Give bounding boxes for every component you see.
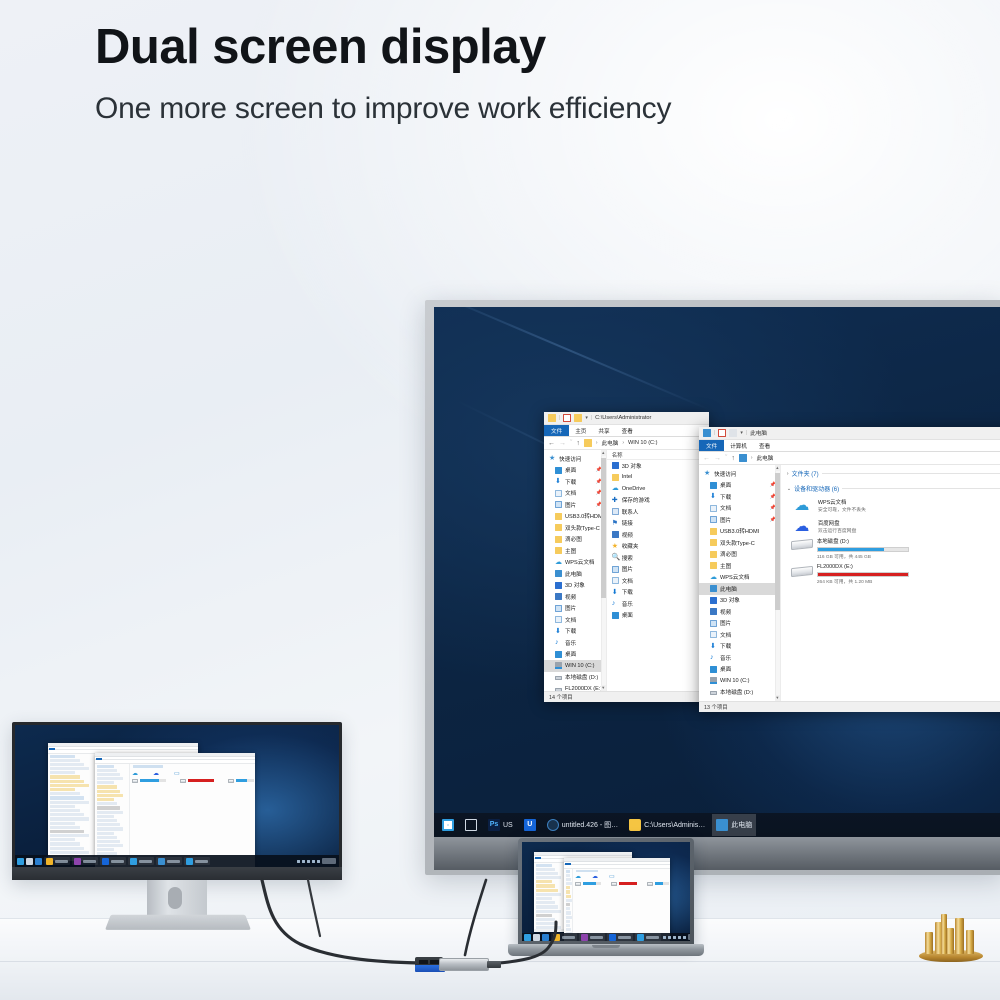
nav-item[interactable]: 桌面📌 — [544, 465, 606, 477]
tray-icon[interactable] — [317, 860, 320, 863]
mini-taskbar-label — [83, 860, 96, 863]
mini-row[interactable] — [50, 805, 75, 808]
mini-nav-pane[interactable] — [95, 764, 130, 868]
window-titlebar[interactable]: | ▾ | C:\Users\Administrator — [544, 412, 709, 425]
nav-item[interactable]: 图片📌 — [544, 499, 606, 511]
mini-row[interactable] — [566, 916, 572, 919]
mini-row[interactable] — [50, 813, 84, 816]
drive-capacity-text: 264 KB 可用，共 1.20 MB — [817, 578, 909, 585]
mini-row[interactable] — [50, 822, 75, 825]
mini-row[interactable] — [50, 755, 75, 758]
titlebar-divider: | — [746, 430, 747, 436]
tab-home[interactable]: 主页 — [569, 425, 592, 436]
mini-ribbon[interactable] — [564, 862, 670, 865]
tray-icon[interactable] — [307, 860, 310, 863]
laptop-taskbar[interactable] — [522, 933, 690, 941]
nav-item[interactable]: 滴必图 — [699, 549, 780, 561]
tab-share[interactable]: 共享 — [592, 425, 615, 436]
file-list-item[interactable]: ✚保存的游戏 — [607, 495, 709, 507]
file-list-item[interactable]: ♪音乐 — [607, 598, 709, 610]
nav-item[interactable]: 双头款Type-C — [544, 522, 606, 534]
mini-taskbar-item[interactable] — [607, 933, 633, 941]
mini-row[interactable] — [536, 880, 552, 883]
nav-item[interactable]: FL2000DX (E:) — [544, 683, 606, 691]
file-list-pane[interactable]: 名称 3D 对象Intel☁OneDrive✚保存的游戏联系人⚑链接视频★收藏夹… — [607, 450, 709, 691]
mini-taskbar-item[interactable] — [524, 934, 531, 941]
file-name: 文档 — [622, 577, 633, 585]
explorer-window-this-pc[interactable]: | ▾ | 此电脑 文件 计算机 查看 ← → ˇ ↑ › 此电脑 — [699, 427, 1000, 712]
mini-taskbar-item[interactable] — [35, 858, 42, 865]
taskbar-item[interactable]: untitled.426 - 图… — [543, 814, 622, 836]
nav-item[interactable]: USB3.0转HDMI — [699, 526, 780, 538]
taskbar-item[interactable] — [438, 814, 458, 836]
taskbar-item[interactable]: PsUS — [484, 814, 517, 836]
nav-item[interactable]: 图片 — [544, 603, 606, 615]
nav-item[interactable]: ⬇下载📌 — [544, 476, 606, 488]
mini-row[interactable] — [536, 872, 558, 875]
mini-row[interactable] — [97, 769, 117, 772]
mini-row[interactable] — [566, 907, 570, 910]
mini-row[interactable] — [536, 905, 558, 908]
mini-row[interactable] — [536, 897, 552, 900]
mini-taskbar-item[interactable] — [635, 933, 661, 941]
mini-row[interactable] — [97, 844, 123, 847]
group-label-devices: 设备和驱动器 (6) — [794, 484, 839, 493]
mini-row[interactable] — [97, 765, 114, 768]
mini-capacity-bar — [236, 779, 254, 782]
file-list-item[interactable]: ★收藏夹 — [607, 541, 709, 553]
mini-taskbar-item[interactable] — [72, 857, 98, 865]
mini-row[interactable] — [97, 773, 120, 776]
breadcrumb-this-pc[interactable]: 此电脑 — [602, 439, 619, 447]
nav-item[interactable]: 滴必图 — [544, 534, 606, 546]
mini-row[interactable] — [50, 838, 75, 841]
folder-icon[interactable] — [629, 819, 641, 831]
nav-item[interactable]: 文档📌 — [544, 488, 606, 500]
recent-locations-button[interactable]: ˇ — [725, 455, 727, 462]
nav-item[interactable]: ★快速访问 — [544, 453, 606, 465]
drive-name: FL2000DX (E:) — [817, 564, 909, 570]
mini-row[interactable] — [97, 785, 117, 788]
group-rule — [822, 473, 1000, 474]
cloud-icon: ☁ — [710, 574, 717, 581]
mini-row[interactable] — [50, 801, 89, 804]
address-bar[interactable]: ← → ˇ ↑ › 此电脑 › WIN 10 (C:) — [544, 437, 709, 450]
system-tray[interactable] — [297, 858, 336, 864]
clock[interactable] — [322, 858, 336, 864]
mini-row[interactable] — [97, 827, 123, 830]
file-list-item[interactable]: Intel — [607, 472, 709, 484]
file-list-item[interactable]: 桌面 — [607, 610, 709, 622]
nav-item[interactable]: 主图 — [699, 560, 780, 572]
mini-row[interactable] — [97, 815, 114, 818]
mini-taskbar-item[interactable] — [533, 934, 540, 941]
mini-row[interactable] — [50, 788, 75, 791]
mini-row[interactable] — [566, 895, 571, 898]
mini-row[interactable] — [566, 870, 570, 873]
navigation-pane[interactable]: ▲ ▼ ★快速访问桌面📌⬇下载📌文档📌图片📌USB3.0转HDMI双头款Type… — [544, 450, 607, 691]
nav-item-label: USB3.0转HDMI — [720, 527, 759, 535]
task-view-icon[interactable] — [465, 819, 477, 831]
taskbar-item-label: 此电脑 — [731, 820, 752, 830]
mini-row[interactable] — [50, 826, 80, 829]
app-icon — [158, 858, 165, 865]
drive-item[interactable]: 本地磁盘 (D:)116 GB 可用，共 445 GB — [791, 537, 909, 560]
tab-file[interactable]: 文件 — [544, 425, 569, 436]
taskbar-item[interactable]: 此电脑 — [712, 814, 756, 836]
folder-icon — [710, 539, 717, 546]
nav-item[interactable]: 本地磁盘 (D:) — [544, 672, 606, 684]
mini-taskbar-item[interactable] — [156, 857, 182, 865]
nav-item[interactable]: ⬇下载📌 — [699, 491, 780, 503]
mini-row[interactable] — [536, 922, 558, 925]
mini-taskbar-item[interactable] — [100, 857, 126, 865]
chevron-down-icon[interactable]: ▾ — [740, 430, 743, 436]
nav-item[interactable]: USB3.0转HDMI — [544, 511, 606, 523]
mini-nav-pane[interactable] — [564, 869, 573, 940]
clock[interactable] — [688, 934, 690, 940]
nav-item-label: 音乐 — [720, 654, 731, 662]
mini-row[interactable] — [50, 809, 80, 812]
tray-icon[interactable] — [663, 936, 666, 939]
system-tray[interactable] — [663, 934, 690, 940]
drive-grid[interactable]: 本地磁盘 (D:)116 GB 可用，共 445 GBFL2000DX (E:)… — [781, 535, 1000, 585]
tray-icon[interactable] — [673, 936, 676, 939]
mini-taskbar-item[interactable] — [579, 933, 605, 941]
mini-capacity-bar — [188, 779, 214, 782]
cloud-drive-item[interactable]: ☁百度网盘双击运行百度网盘 — [791, 518, 909, 535]
window-titlebar[interactable]: | ▾ | 此电脑 — [699, 427, 1000, 440]
taskbar[interactable]: PsUSUuntitled.426 - 图…C:\Users\Adminis…此… — [434, 813, 1000, 837]
mini-row[interactable] — [50, 817, 89, 820]
mini-row[interactable] — [566, 886, 570, 889]
mini-row[interactable] — [566, 882, 572, 885]
mini-nav-pane[interactable] — [534, 863, 567, 930]
tray-icon[interactable] — [312, 860, 315, 863]
mini-row[interactable] — [536, 914, 552, 917]
nav-scrollbar[interactable]: ▲ ▼ — [601, 450, 606, 691]
mini-row[interactable] — [566, 890, 570, 893]
mini-row[interactable] — [97, 781, 114, 784]
nav-item[interactable]: ★快速访问 — [699, 468, 780, 480]
mini-row[interactable] — [566, 911, 571, 914]
nav-item[interactable]: 3D 对象 — [544, 580, 606, 592]
nav-item-label: 图片 — [565, 501, 576, 509]
nav-item[interactable]: 文档📌 — [699, 503, 780, 515]
baidu-cloud-icon[interactable]: ☁ — [153, 771, 160, 777]
breadcrumb-win10-c[interactable]: WIN 10 (C:) — [628, 440, 658, 446]
breadcrumb-this-pc[interactable]: 此电脑 — [757, 454, 774, 462]
group-header-devices[interactable]: ⌄ 设备和驱动器 (6) — [781, 480, 1000, 495]
file-list-item[interactable]: 联系人 — [607, 506, 709, 518]
file-list-item[interactable]: 视频 — [607, 529, 709, 541]
file-list[interactable]: 3D 对象Intel☁OneDrive✚保存的游戏联系人⚑链接视频★收藏夹🔍搜索… — [607, 460, 709, 621]
nav-item[interactable]: WIN 10 (C:) — [544, 660, 606, 672]
tray-icon[interactable] — [678, 936, 681, 939]
mini-row[interactable] — [97, 806, 120, 809]
drive-icon — [132, 779, 138, 783]
ribbon-tabs[interactable]: 文件 主页 共享 查看 — [544, 425, 709, 437]
game-icon: ✚ — [612, 497, 619, 504]
drive-icon — [611, 882, 617, 886]
taskbar-item[interactable]: U — [520, 814, 540, 836]
nav-item[interactable]: ♪音乐 — [699, 652, 780, 664]
chevron-down-icon[interactable]: ▾ — [585, 415, 588, 421]
nav-item[interactable]: 图片 — [699, 618, 780, 630]
mini-taskbar-item[interactable] — [26, 858, 33, 865]
scrollbar-thumb[interactable] — [601, 458, 606, 598]
column-header-name[interactable]: 名称 — [607, 450, 709, 460]
nav-item[interactable]: ♪音乐 — [544, 637, 606, 649]
mini-taskbar-item[interactable] — [542, 934, 549, 941]
cloud-icon[interactable]: ☁ — [575, 874, 582, 880]
address-bar[interactable]: ← → ˇ ↑ › 此电脑 — [699, 452, 1000, 465]
app-circle-icon[interactable] — [547, 819, 559, 831]
mini-drive-f[interactable] — [228, 779, 254, 783]
back-button[interactable]: ← — [703, 455, 710, 462]
monitor-taskbar[interactable] — [15, 855, 339, 867]
mini-row[interactable] — [50, 767, 89, 770]
pc-icon[interactable]: ▭ — [174, 771, 181, 777]
folder-icon[interactable] — [574, 414, 582, 422]
nav-item-label: USB3.0转HDMI — [565, 512, 604, 520]
tab-file[interactable]: 文件 — [699, 440, 724, 451]
mini-body: ☁ ☁ ▭ — [95, 764, 255, 868]
tab-view[interactable]: 查看 — [616, 425, 639, 436]
folder-icon — [710, 528, 717, 535]
mini-row[interactable] — [566, 903, 570, 906]
mini-row[interactable] — [50, 847, 84, 850]
nav-scrollbar[interactable]: ▲ ▼ — [775, 465, 780, 701]
mini-nav-pane[interactable] — [48, 754, 99, 859]
mini-explorer-window-front[interactable]: ☁ ☁ ▭ — [95, 753, 255, 867]
mini-row[interactable] — [97, 848, 114, 851]
group-header-folders[interactable]: › 文件夹 (7) — [781, 465, 1000, 480]
mini-row[interactable] — [50, 834, 89, 837]
mini-row[interactable] — [536, 901, 555, 904]
mini-taskbar-item[interactable] — [44, 857, 70, 865]
nav-item[interactable]: 3D 对象 — [699, 595, 780, 607]
mini-row[interactable] — [536, 864, 552, 867]
nav-item[interactable]: 此电脑 — [544, 568, 606, 580]
navigation-pane[interactable]: ▲ ▼ ★快速访问桌面📌⬇下载📌文档📌图片📌USB3.0转HDMI双头款Type… — [699, 465, 781, 701]
mini-row[interactable] — [50, 792, 80, 795]
document-icon — [555, 490, 562, 497]
chevron-right-icon[interactable]: › — [787, 471, 789, 477]
nav-item[interactable]: WIN 10 (C:) — [699, 675, 780, 687]
file-name: 联系人 — [622, 508, 639, 516]
mini-taskbar-label — [562, 936, 575, 939]
download-icon: ⬇ — [710, 493, 717, 500]
drive-item[interactable]: FL2000DX (E:)264 KB 可用，共 1.20 MB — [791, 564, 909, 585]
mini-row[interactable] — [536, 889, 558, 892]
cloud-icon[interactable]: ☁ — [132, 771, 139, 777]
window-title-path: 此电脑 — [750, 429, 767, 437]
nav-item[interactable]: 文档 — [544, 614, 606, 626]
pc-icon[interactable]: ▭ — [609, 874, 616, 880]
mini-row[interactable] — [566, 878, 571, 881]
tab-computer[interactable]: 计算机 — [724, 440, 753, 451]
tray-icon[interactable] — [302, 860, 305, 863]
mini-content-pane[interactable]: ☁ ☁ ▭ — [130, 764, 255, 868]
mini-row[interactable] — [566, 874, 570, 877]
mini-taskbar-item[interactable] — [128, 857, 154, 865]
mini-row[interactable] — [536, 876, 561, 879]
mini-row[interactable] — [97, 794, 123, 797]
mini-row[interactable] — [97, 802, 117, 805]
checkbox-icon[interactable] — [718, 429, 726, 437]
mini-row[interactable] — [536, 884, 555, 887]
nav-item[interactable]: ⬇下载 — [699, 641, 780, 653]
mini-drive-d[interactable] — [132, 779, 166, 783]
mini-row[interactable] — [97, 840, 120, 843]
mini-row[interactable] — [536, 918, 555, 921]
nav-item[interactable]: 此电脑 — [699, 583, 780, 595]
hub-port-2 — [430, 960, 439, 964]
mini-ribbon[interactable] — [48, 747, 198, 750]
mini-row[interactable] — [566, 899, 572, 902]
file-list-item[interactable]: ☁OneDrive — [607, 483, 709, 495]
folder-icon — [555, 536, 562, 543]
nav-item[interactable]: 图片📌 — [699, 514, 780, 526]
scroll-up-icon[interactable]: ▲ — [601, 450, 606, 456]
window-body: ▲ ▼ ★快速访问桌面📌⬇下载📌文档📌图片📌USB3.0转HDMI双头款Type… — [544, 450, 709, 691]
content-pane[interactable]: › 文件夹 (7) ⌄ 设备和驱动器 (6) ☁WPS云文档安全可靠，文件不丢失… — [781, 465, 1000, 701]
mini-row[interactable] — [50, 784, 89, 787]
file-list-item[interactable]: ⬇下载 — [607, 587, 709, 599]
mini-row[interactable] — [536, 910, 561, 913]
file-list-item[interactable]: 文档 — [607, 575, 709, 587]
mini-taskbar-item[interactable] — [184, 857, 210, 865]
mini-row[interactable] — [50, 759, 80, 762]
nav-item[interactable]: 视频 — [699, 606, 780, 618]
mini-row[interactable] — [97, 823, 120, 826]
app-icon — [553, 934, 560, 941]
recent-locations-button[interactable]: ˇ — [570, 440, 572, 447]
file-list-item[interactable]: 🔍搜索 — [607, 552, 709, 564]
forward-button[interactable]: → — [714, 455, 721, 462]
mini-taskbar-item[interactable] — [17, 858, 24, 865]
file-list-item[interactable]: 3D 对象 — [607, 460, 709, 472]
up-button[interactable]: ↑ — [731, 455, 735, 462]
mini-drive-f[interactable] — [647, 882, 669, 886]
mini-taskbar-label — [167, 860, 180, 863]
usb-shield-icon[interactable]: U — [524, 819, 536, 831]
tray-icon[interactable] — [297, 860, 300, 863]
tray-icon[interactable] — [668, 936, 671, 939]
nav-item[interactable]: 本地磁盘 (D:) — [699, 687, 780, 699]
mini-row[interactable] — [97, 790, 120, 793]
checkbox-icon[interactable] — [563, 414, 571, 422]
explorer-window-user-folder[interactable]: | ▾ | C:\Users\Administrator 文件 主页 共享 查看… — [544, 412, 709, 702]
nav-item-label: 文档 — [565, 489, 576, 497]
mini-row[interactable] — [97, 832, 114, 835]
tray-icon[interactable] — [683, 936, 686, 939]
forward-button[interactable]: → — [559, 440, 566, 447]
nav-item-label: 图片 — [565, 604, 576, 612]
nav-item[interactable]: 视频 — [544, 591, 606, 603]
cloud-drive-grid[interactable]: ☁WPS云文档安全可靠，文件不丢失☁百度网盘双击运行百度网盘 — [781, 495, 1000, 535]
photoshop-icon[interactable]: Ps — [488, 819, 500, 831]
mini-row[interactable] — [50, 780, 84, 783]
taskbar-item[interactable]: C:\Users\Adminis… — [625, 814, 709, 836]
mini-row[interactable] — [50, 763, 84, 766]
folder-icon — [612, 474, 619, 481]
nav-item[interactable]: 桌面 — [544, 649, 606, 661]
mini-row[interactable] — [50, 842, 80, 845]
mini-drive-e[interactable] — [180, 779, 214, 783]
nav-item[interactable]: 双头款Type-C — [699, 537, 780, 549]
app-icon — [186, 858, 193, 865]
nav-item-label: 此电脑 — [720, 585, 737, 593]
app-icon — [609, 934, 616, 941]
mini-row[interactable] — [566, 924, 570, 927]
baidu-cloud-icon[interactable]: ☁ — [592, 874, 599, 880]
mini-row[interactable] — [97, 811, 123, 814]
sculpture-tube — [966, 930, 974, 954]
nav-item[interactable]: 桌面📌 — [699, 480, 780, 492]
nav-item-label: 文档 — [565, 616, 576, 624]
wall-mounted-tv: | ▾ | C:\Users\Administrator 文件 主页 共享 查看… — [425, 300, 1000, 875]
mini-ribbon[interactable] — [95, 757, 255, 760]
mini-taskbar-item[interactable] — [551, 933, 577, 941]
download-icon: ⬇ — [555, 628, 562, 635]
folder-icon — [710, 562, 717, 569]
nav-item[interactable]: ⬇下载 — [544, 626, 606, 638]
nav-item[interactable]: ☁WPS云文档 — [699, 572, 780, 584]
nav-item[interactable]: ☁WPS云文档 — [544, 557, 606, 569]
cloud-drive-item[interactable]: ☁WPS云文档安全可靠，文件不丢失 — [791, 497, 909, 514]
mini-row[interactable] — [50, 830, 84, 833]
taskbar-item[interactable] — [461, 814, 481, 836]
mini-row[interactable] — [97, 777, 123, 780]
mini-row[interactable] — [97, 836, 117, 839]
mini-row[interactable] — [536, 893, 561, 896]
mini-row[interactable] — [566, 920, 570, 923]
mini-drive-d[interactable] — [575, 882, 601, 886]
tab-view[interactable]: 查看 — [753, 440, 776, 451]
screen-reflection — [434, 307, 712, 411]
mini-row[interactable] — [566, 928, 571, 931]
mini-row[interactable] — [97, 798, 114, 801]
mini-explorer-window-front[interactable]: ☁ ☁ ▭ — [564, 858, 670, 941]
file-list-item[interactable]: 图片 — [607, 564, 709, 576]
desktop-icon — [710, 482, 717, 489]
mini-row[interactable] — [50, 796, 84, 799]
up-button[interactable]: ↑ — [576, 440, 580, 447]
folder-icon[interactable] — [729, 429, 737, 437]
nav-item[interactable]: 桌面 — [699, 664, 780, 676]
mini-row[interactable] — [50, 775, 80, 778]
back-button[interactable]: ← — [548, 440, 555, 447]
ribbon-tabs[interactable]: 文件 计算机 查看 — [699, 440, 1000, 452]
pc-icon[interactable] — [716, 819, 728, 831]
scroll-up-icon[interactable]: ▲ — [775, 465, 780, 471]
mini-row[interactable] — [97, 819, 117, 822]
mini-drive-e[interactable] — [611, 882, 637, 886]
file-list-item[interactable]: ⚑链接 — [607, 518, 709, 530]
scrollbar-thumb[interactable] — [775, 473, 780, 610]
mini-row[interactable] — [50, 771, 75, 774]
nav-item[interactable]: 文档 — [699, 629, 780, 641]
mini-row[interactable] — [536, 868, 555, 871]
mini-content-pane[interactable]: ☁ ☁ ▭ — [573, 869, 670, 940]
nav-item[interactable]: 主图 — [544, 545, 606, 557]
mini-row[interactable] — [50, 851, 89, 854]
window-title-path: C:\Users\Administrator — [595, 415, 651, 421]
windows-start-icon[interactable] — [442, 819, 454, 831]
chevron-down-icon[interactable]: ⌄ — [787, 486, 791, 492]
